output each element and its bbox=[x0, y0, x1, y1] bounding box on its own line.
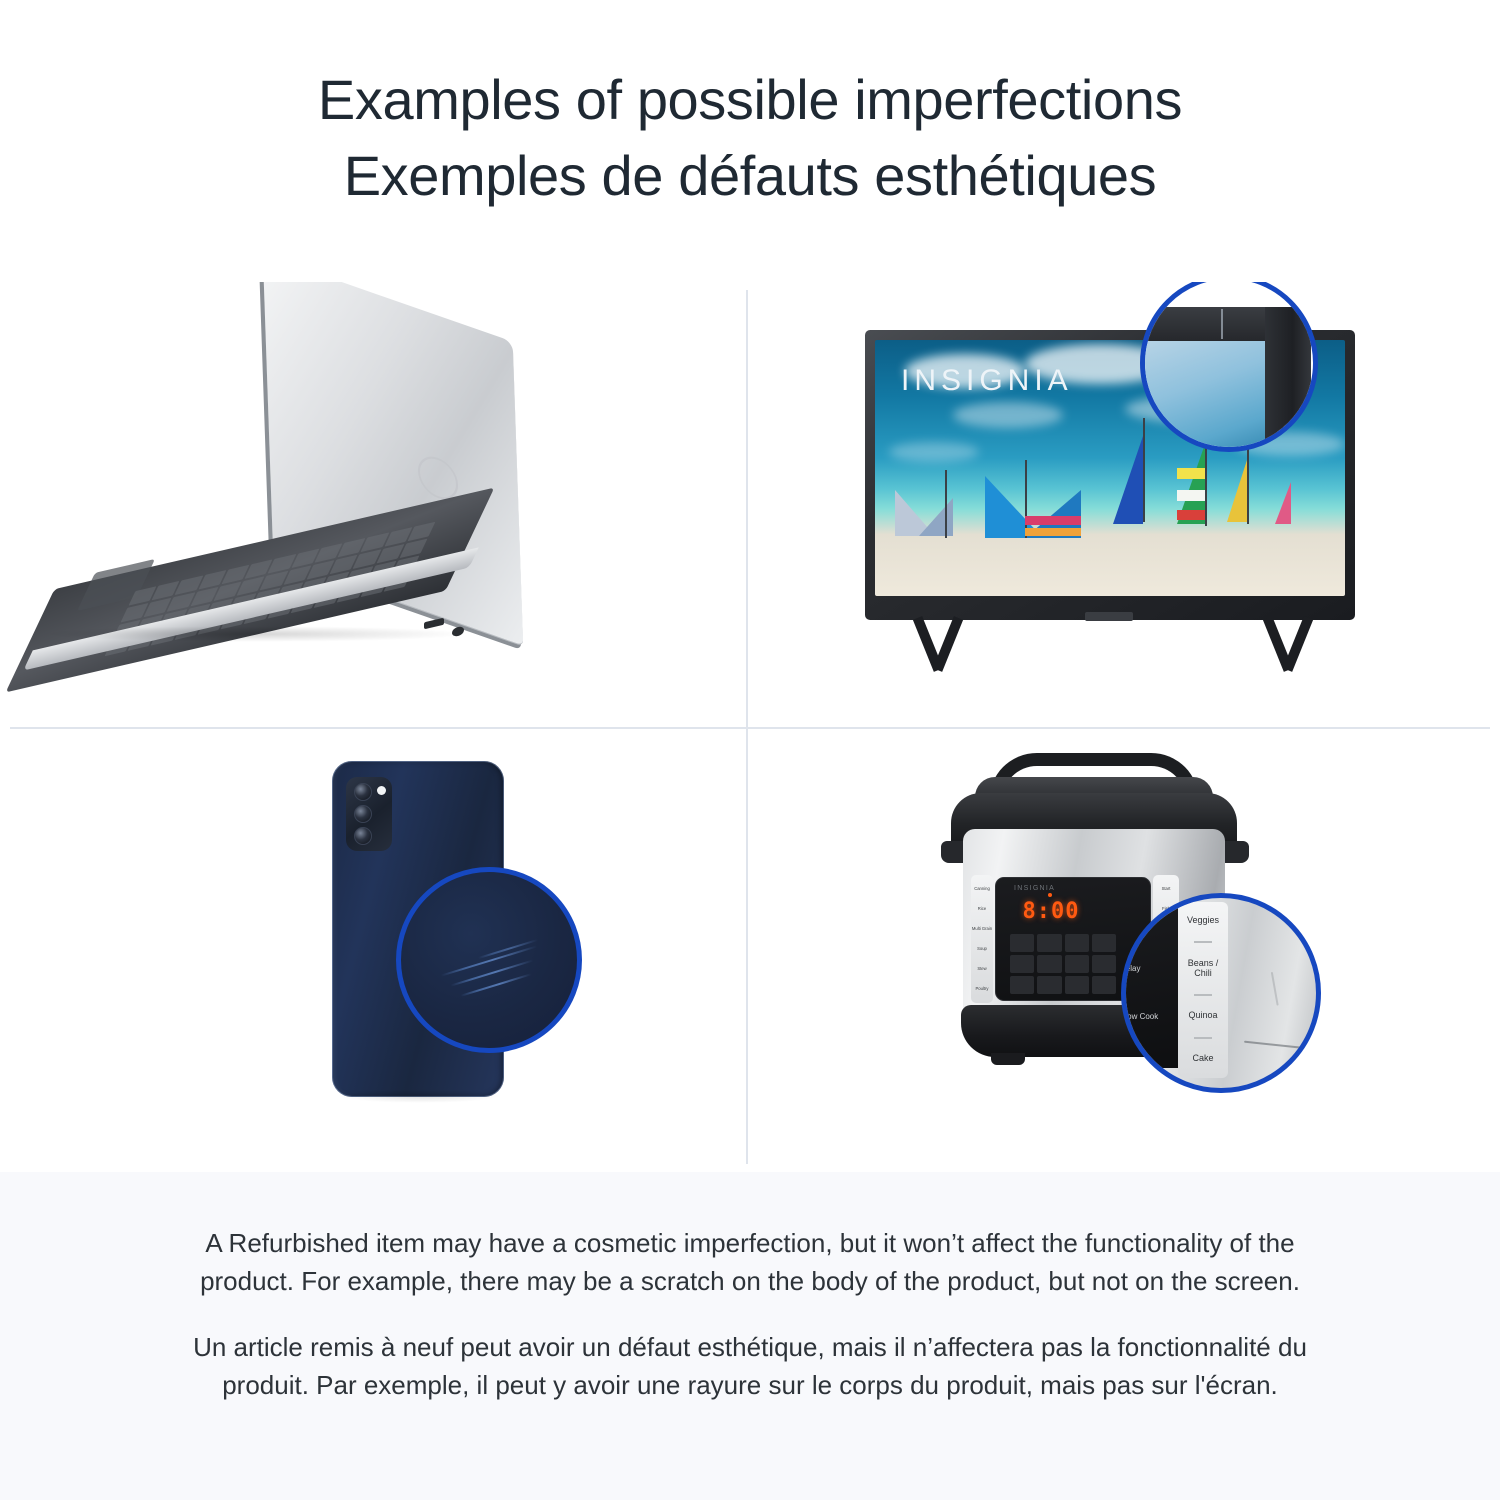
page-title-english: Examples of possible imperfections bbox=[318, 62, 1182, 138]
gallery-cell-laptop bbox=[0, 282, 745, 727]
magnifier-cooker-scratch: Delay Slow Cook Veggies Beans / Chili Qu… bbox=[1121, 893, 1321, 1093]
cooker-status-led bbox=[1048, 893, 1052, 897]
television-logo-bar bbox=[1085, 612, 1133, 621]
cooker-zoom-button-column: Veggies Beans / Chili Quinoa Cake bbox=[1178, 902, 1228, 1078]
camera-lens-icon bbox=[354, 805, 372, 823]
television-stand-right-b bbox=[1263, 616, 1293, 672]
magnifier-television-scuff bbox=[1140, 282, 1318, 452]
cooker-scratch-mark bbox=[1244, 1041, 1308, 1049]
television-zoom-bezel-right bbox=[1265, 307, 1311, 452]
page-header: Examples of possible imperfections Exemp… bbox=[0, 0, 1500, 272]
gallery-cell-television: INSIGNIA bbox=[755, 282, 1500, 727]
cooker-button: Multi Grain bbox=[972, 927, 992, 932]
camera-flash-icon bbox=[377, 786, 386, 795]
cooker-button: Start bbox=[1162, 887, 1171, 892]
cooker-button: Poultry bbox=[975, 987, 988, 992]
television-scuff-mark bbox=[1221, 309, 1223, 339]
page-footer: A Refurbished item may have a cosmetic i… bbox=[0, 1172, 1500, 1500]
television-illustration: INSIGNIA bbox=[755, 282, 1500, 727]
cooker-button: Rice bbox=[978, 907, 986, 912]
cooker-brand-label: INSIGNIA bbox=[1014, 885, 1055, 892]
cooker-display-value: 8:00 bbox=[1018, 898, 1084, 924]
camera-lens-icon bbox=[354, 827, 372, 845]
page-title-french: Exemples de défauts esthétiques bbox=[344, 138, 1157, 214]
example-gallery-grid: INSIGNIA bbox=[0, 282, 1500, 1172]
cooker-button: Stew bbox=[977, 967, 986, 972]
laptop-illustration bbox=[0, 282, 745, 727]
cooker-button: Soup bbox=[977, 947, 987, 952]
grid-divider-horizontal bbox=[10, 727, 1490, 729]
smartphone-scratch-mark bbox=[451, 959, 534, 986]
cooker-button: Canning bbox=[974, 887, 990, 892]
cooker-zoom-button-separator bbox=[1194, 994, 1212, 996]
television-brand-label: INSIGNIA bbox=[901, 364, 1073, 398]
cooker-foot-left bbox=[991, 1053, 1025, 1065]
smartphone-scratch-mark bbox=[460, 973, 531, 997]
imperfections-infographic: Examples of possible imperfections Exemp… bbox=[0, 0, 1500, 1500]
smartphone-shadow bbox=[340, 1089, 500, 1103]
footer-paragraph-english: A Refurbished item may have a cosmetic i… bbox=[186, 1224, 1314, 1300]
camera-lens-icon bbox=[354, 783, 372, 801]
cooker-keypad bbox=[1010, 934, 1116, 994]
cooker-zoom-button-separator bbox=[1194, 941, 1212, 943]
cooker-left-button-strip: Canning Rice Multi Grain Soup Stew Poult… bbox=[971, 875, 993, 1003]
cooker-zoom-label-delay: Delay bbox=[1121, 964, 1140, 973]
cooker-scratch-mark bbox=[1271, 972, 1278, 1006]
cooker-zoom-label-slow-cook: Slow Cook bbox=[1121, 1012, 1158, 1021]
magnifier-smartphone-scratches bbox=[396, 867, 582, 1053]
cooker-zoom-button-separator bbox=[1194, 1037, 1212, 1039]
television-stand-left-b bbox=[913, 616, 943, 672]
cooker-zoom-button-beans-chili: Beans / Chili bbox=[1178, 959, 1228, 979]
cooker-zoom-button-veggies: Veggies bbox=[1187, 916, 1219, 926]
smartphone-camera-module bbox=[346, 777, 392, 851]
laptop-shadow bbox=[40, 626, 470, 642]
gallery-cell-smartphone bbox=[0, 737, 745, 1182]
television-zoom-screen bbox=[1140, 341, 1267, 452]
footer-paragraph-french: Un article remis à neuf peut avoir un dé… bbox=[186, 1328, 1314, 1404]
gallery-cell-pressure-cooker: Canning Rice Multi Grain Soup Stew Poult… bbox=[755, 737, 1500, 1182]
cooker-zoom-button-quinoa: Quinoa bbox=[1188, 1011, 1217, 1021]
smartphone-illustration bbox=[0, 737, 745, 1182]
cooker-zoom-button-cake: Cake bbox=[1192, 1054, 1213, 1064]
